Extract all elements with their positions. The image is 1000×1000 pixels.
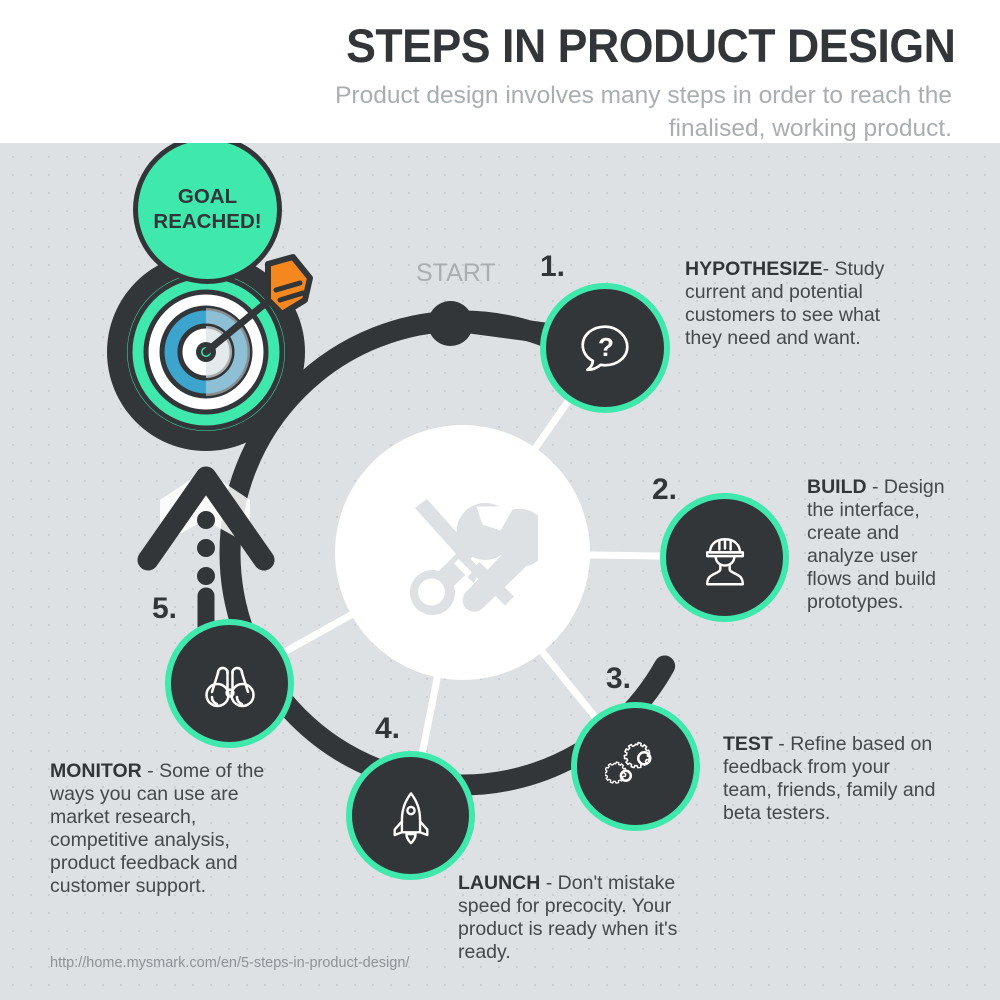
step-number-2: 2. <box>652 473 677 507</box>
step-number-4: 4. <box>375 712 400 746</box>
step-title-5: MONITOR <box>50 760 142 782</box>
goal-reached-bubble: GOAL REACHED! <box>133 135 282 284</box>
step-node-1[interactable]: ? <box>540 283 670 413</box>
step-node-4[interactable] <box>346 751 475 880</box>
step-number-5: 5. <box>152 592 177 626</box>
step-description-2: BUILD - Design the interface, create and… <box>807 476 967 614</box>
infographic-canvas: GOAL REACHED! START <box>0 0 1000 1000</box>
page-subtitle: Product design involves many steps in or… <box>312 80 952 145</box>
gears-icon <box>605 736 667 798</box>
arrow-dot-2 <box>197 539 215 557</box>
source-url: http://home.mysmark.com/en/5-steps-in-pr… <box>50 955 409 971</box>
step-number-1: 1. <box>540 250 565 284</box>
step-title-4: LAUNCH <box>458 872 540 894</box>
hard-hat-worker-icon <box>695 528 755 588</box>
question-speech-bubble-icon: ? <box>574 317 636 379</box>
rocket-icon <box>382 787 440 845</box>
start-dot-icon <box>428 301 473 346</box>
page-title: STEPS IN PRODUCT DESIGN <box>346 18 955 73</box>
step-separator-5: - <box>142 760 159 782</box>
step-node-5[interactable] <box>165 619 294 748</box>
step-separator-4: - <box>540 872 557 894</box>
arrow-dot-3 <box>197 567 215 585</box>
step-title-2: BUILD <box>807 476 867 498</box>
step-description-5: MONITOR - Some of the ways you can use a… <box>50 760 265 898</box>
svg-text:?: ? <box>598 332 614 362</box>
step-separator-2: - <box>867 476 884 498</box>
arrow-dot-1 <box>197 511 215 529</box>
step-separator-1: - <box>823 258 835 280</box>
step-description-3: TEST - Refine based on feedback from you… <box>723 733 938 825</box>
step-title-3: TEST <box>723 733 773 755</box>
step-node-3[interactable] <box>571 702 700 831</box>
header-band: STEPS IN PRODUCT DESIGN Product design i… <box>0 0 1000 143</box>
step-node-2[interactable] <box>660 493 789 622</box>
binoculars-icon <box>198 652 262 716</box>
goal-reached-label: GOAL REACHED! <box>153 185 261 234</box>
step-number-3: 3. <box>606 662 631 696</box>
start-label: START <box>416 259 496 288</box>
step-separator-3: - <box>773 733 790 755</box>
step-title-1: HYPOTHESIZE <box>685 258 823 280</box>
step-description-4: LAUNCH - Don't mistake speed for precoci… <box>458 872 693 964</box>
step-description-1: HYPOTHESIZE- Study current and potential… <box>685 258 910 350</box>
